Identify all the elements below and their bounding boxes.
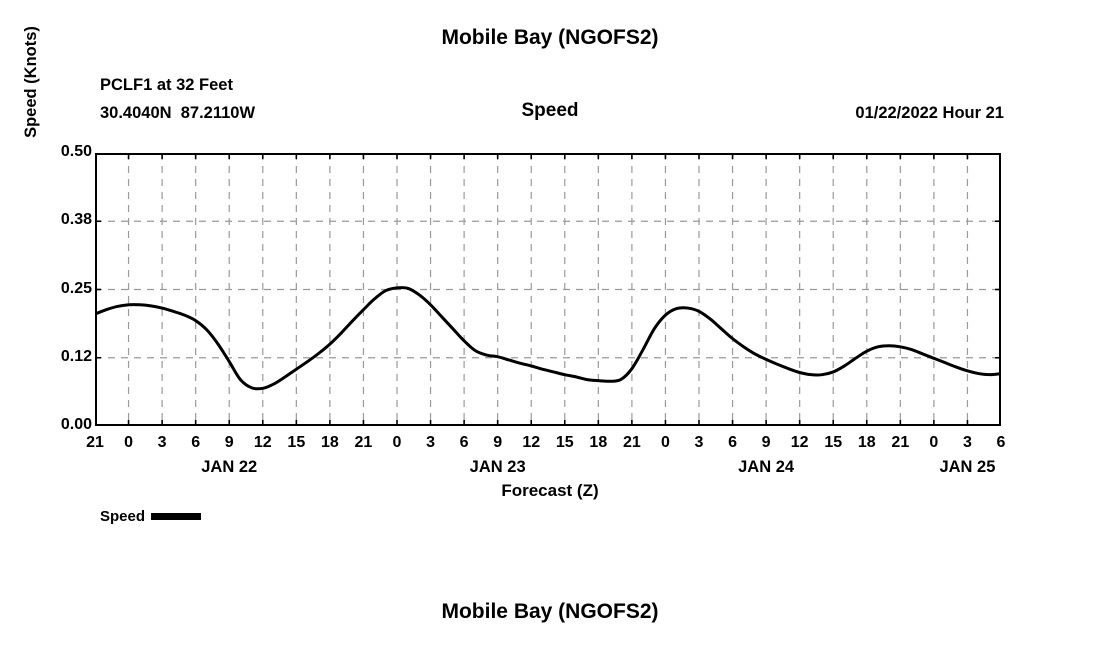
y-axis-label: Speed (Knots) (22, 0, 41, 192)
x-axis-day-label: JAN 25 (907, 458, 1027, 477)
x-axis-day-label: JAN 23 (438, 458, 558, 477)
legend-label: Speed (100, 508, 145, 525)
x-axis-tick-label: 9 (214, 434, 244, 452)
legend-line-swatch (151, 513, 201, 520)
x-axis-day-label: JAN 24 (706, 458, 826, 477)
x-axis-tick-label: 18 (852, 434, 882, 452)
x-axis-tick-label: 21 (617, 434, 647, 452)
x-axis-tick-label: 3 (416, 434, 446, 452)
chart-legend: Speed (100, 508, 201, 525)
x-axis-tick-label: 21 (348, 434, 378, 452)
x-axis-tick-label: 0 (382, 434, 412, 452)
x-axis-tick-label: 21 (885, 434, 915, 452)
x-axis-tick-label: 6 (181, 434, 211, 452)
x-axis-tick-label: 3 (147, 434, 177, 452)
page-title-bottom: Mobile Bay (NGOFS2) (0, 600, 1100, 624)
x-axis-tick-label: 18 (315, 434, 345, 452)
x-axis-tick-label: 15 (550, 434, 580, 452)
x-axis-tick-label: 21 (80, 434, 110, 452)
x-axis-tick-label: 6 (718, 434, 748, 452)
chart-plot-area (95, 153, 1001, 426)
x-axis-tick-label: 9 (751, 434, 781, 452)
y-axis-tick-label: 0.00 (28, 416, 92, 434)
x-axis-tick-label: 6 (986, 434, 1016, 452)
plot-frame (95, 153, 1001, 426)
x-axis-tick-label: 15 (818, 434, 848, 452)
x-axis-tick-label: 0 (114, 434, 144, 452)
station-label: PCLF1 at 32 Feet (100, 76, 233, 95)
x-axis-tick-label: 12 (785, 434, 815, 452)
page-title-top: Mobile Bay (NGOFS2) (0, 26, 1100, 50)
x-axis-tick-label: 9 (483, 434, 513, 452)
x-axis-tick-label: 0 (919, 434, 949, 452)
x-axis-tick-label: 3 (684, 434, 714, 452)
y-axis-tick-label: 0.12 (28, 348, 92, 366)
x-axis-tick-label: 6 (449, 434, 479, 452)
x-axis-tick-label: 12 (248, 434, 278, 452)
y-axis-tick-label: 0.25 (28, 280, 92, 298)
x-axis-day-label: JAN 22 (169, 458, 289, 477)
model-run-label: 01/22/2022 Hour 21 (855, 104, 1004, 123)
x-axis-tick-label: 15 (281, 434, 311, 452)
x-axis-tick-label: 0 (650, 434, 680, 452)
x-axis-tick-label: 12 (516, 434, 546, 452)
x-axis-tick-label: 3 (952, 434, 982, 452)
y-axis-tick-label: 0.50 (28, 143, 92, 161)
y-axis-tick-label: 0.38 (28, 211, 92, 229)
x-axis-label: Forecast (Z) (0, 481, 1100, 501)
x-axis-tick-label: 18 (583, 434, 613, 452)
